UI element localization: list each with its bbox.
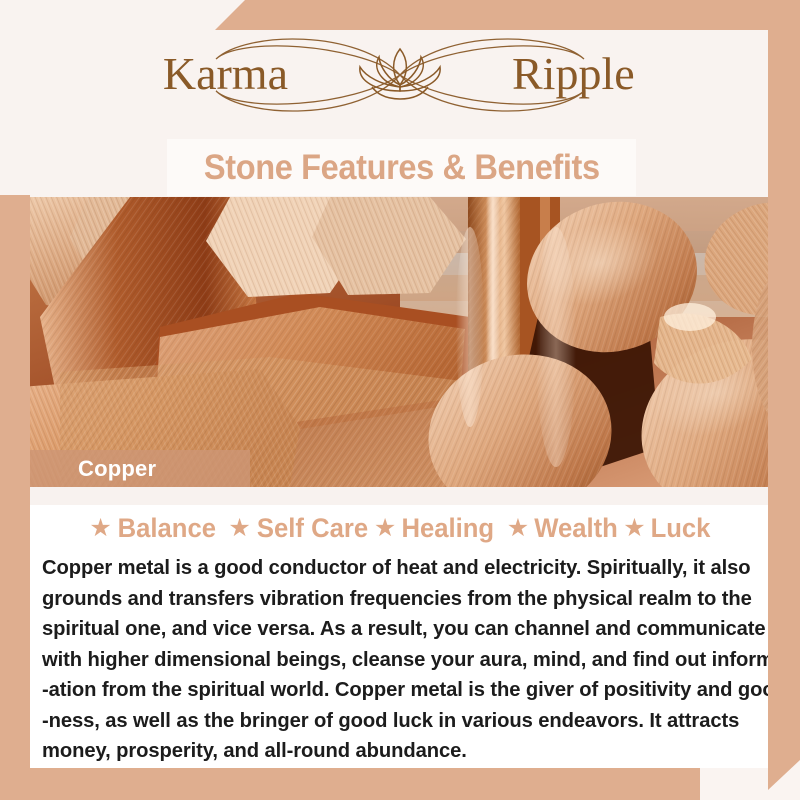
stone-name-label: Copper xyxy=(30,450,250,487)
benefit-balance: Balance xyxy=(117,513,215,544)
benefits-list: ★ Balance ★ Self Care ★ Healing ★ Wealth… xyxy=(30,505,768,551)
benefit-healing: Healing xyxy=(402,513,495,544)
description-text: Copper metal is a good conductor of heat… xyxy=(34,553,768,767)
infographic-page: Karma Ripple Stone Features & Benefits xyxy=(0,0,800,800)
panel-top-divider xyxy=(30,487,768,505)
star-icon: ★ xyxy=(623,516,645,541)
logo-artwork: Karma Ripple xyxy=(120,33,680,117)
brand-logo: Karma Ripple xyxy=(0,34,800,116)
benefit-luck: Luck xyxy=(650,513,710,544)
stone-photo xyxy=(0,197,800,487)
stone-name-text: Copper xyxy=(78,456,156,482)
description-line: -ness, as well as the bringer of good lu… xyxy=(42,706,749,737)
lotus-icon xyxy=(360,49,440,99)
description-line: Copper metal is a good conductor of heat… xyxy=(42,553,749,584)
star-icon: ★ xyxy=(374,516,396,541)
star-icon: ★ xyxy=(89,516,111,541)
brand-name-right: Ripple xyxy=(512,48,635,99)
description-line: money, prosperity, and all-round abundan… xyxy=(42,736,749,767)
description-line: -ation from the spiritual world. Copper … xyxy=(42,675,749,706)
description-line: grounds and transfers vibration frequenc… xyxy=(42,584,749,615)
star-icon: ★ xyxy=(228,516,250,541)
copper-photo-art xyxy=(0,197,800,487)
description-line: with higher dimensional beings, cleanse … xyxy=(42,645,749,676)
description-line: spiritual one, and vice versa. As a resu… xyxy=(42,614,749,645)
frame-band-right xyxy=(768,0,800,800)
benefit-self-care: Self Care xyxy=(257,513,368,544)
brand-name-left: Karma xyxy=(163,48,288,99)
benefit-wealth: Wealth xyxy=(534,513,618,544)
frame-band-top xyxy=(215,0,800,30)
frame-band-left xyxy=(0,195,30,800)
star-icon: ★ xyxy=(507,516,529,541)
page-title: Stone Features & Benefits xyxy=(204,148,600,188)
content-panel: ★ Balance ★ Self Care ★ Healing ★ Wealth… xyxy=(30,487,768,768)
section-title-banner: Stone Features & Benefits xyxy=(167,139,636,196)
